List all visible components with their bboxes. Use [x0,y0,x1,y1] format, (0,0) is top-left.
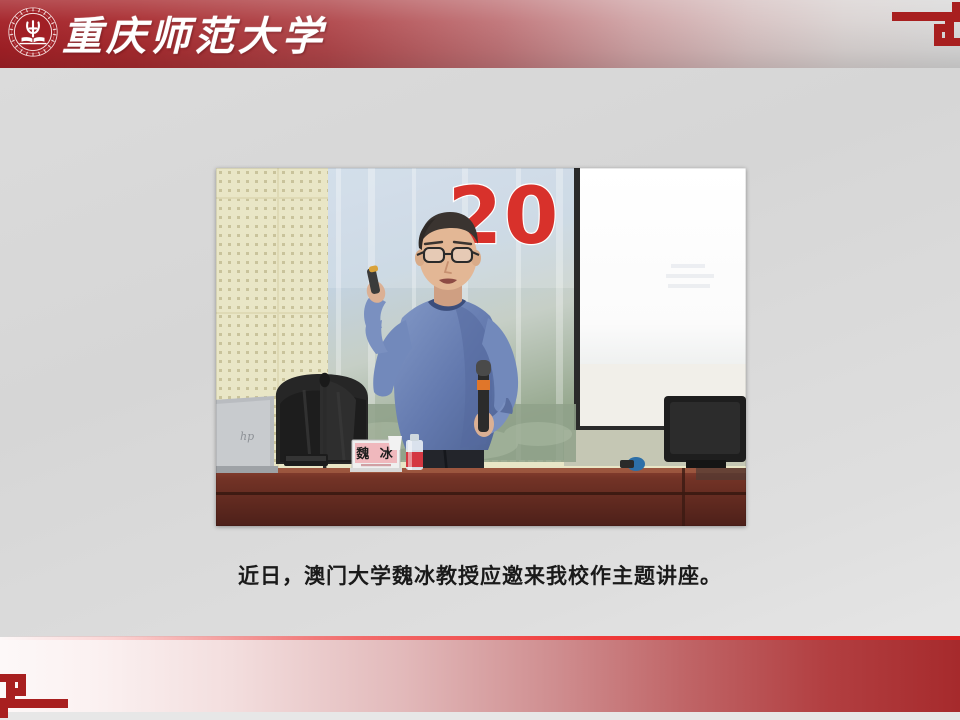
footer-base-strip [0,712,960,720]
chinese-fret-corner-icon [0,666,96,720]
svg-text:魏 冰: 魏 冰 [355,446,396,462]
university-seal-icon [7,6,59,58]
svg-text:hp: hp [240,430,254,443]
photo-caption: 近日，澳门大学魏冰教授应邀来我校作主题讲座。 [0,560,960,590]
university-name-title: 重庆师范大学 [62,4,326,62]
chinese-fret-corner-icon [864,0,960,54]
footer-accent-line [0,636,960,640]
presentation-slide: 重庆师范大学 [0,0,960,720]
footer-banner [0,637,960,712]
lecture-photo: 20 [216,168,746,526]
